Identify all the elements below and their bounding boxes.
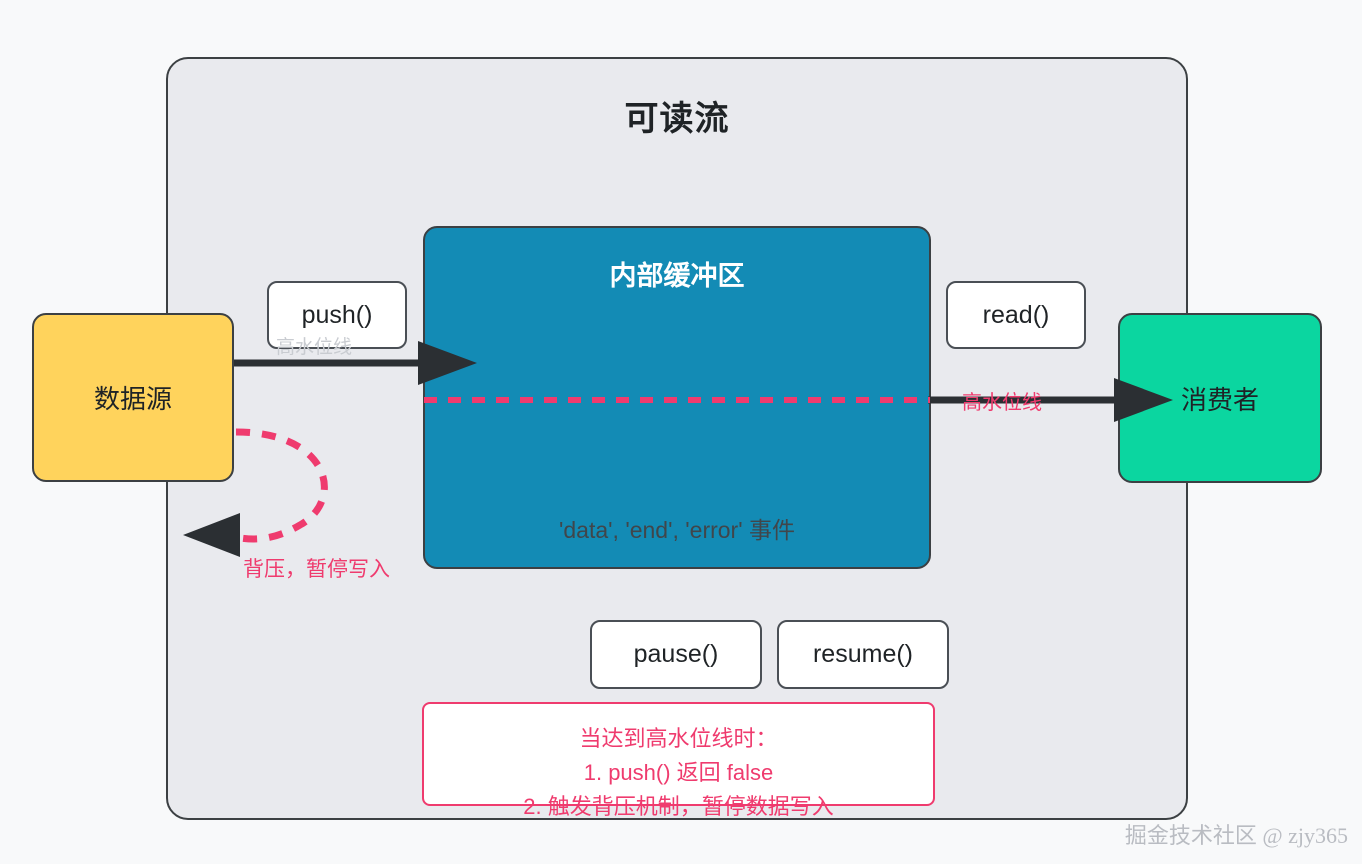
resume-method-chip[interactable]: resume(): [777, 620, 949, 689]
push-method-chip[interactable]: push(): [267, 281, 407, 349]
pause-method-chip[interactable]: pause(): [590, 620, 762, 689]
internal-buffer-node: 内部缓冲区 'data', 'end', 'error' 事件: [423, 226, 931, 569]
page-title: 可读流: [168, 91, 1186, 140]
read-method-chip[interactable]: read(): [946, 281, 1086, 349]
internal-buffer-title: 内部缓冲区: [425, 254, 929, 293]
watermark: 掘金技术社区 @ zjy365: [1125, 818, 1348, 850]
high-water-mark-label: 高水位线: [962, 386, 1042, 415]
diagram-canvas: 可读流 内部缓冲区 'data', 'end', 'error' 事件 数据源 …: [0, 0, 1362, 864]
high-water-note-box: [422, 702, 935, 806]
data-source-node: 数据源: [32, 313, 234, 482]
backpressure-label: 背压，暂停写入: [243, 553, 390, 583]
consumer-node: 消费者: [1118, 313, 1322, 483]
buffer-events-label: 'data', 'end', 'error' 事件: [425, 511, 929, 545]
